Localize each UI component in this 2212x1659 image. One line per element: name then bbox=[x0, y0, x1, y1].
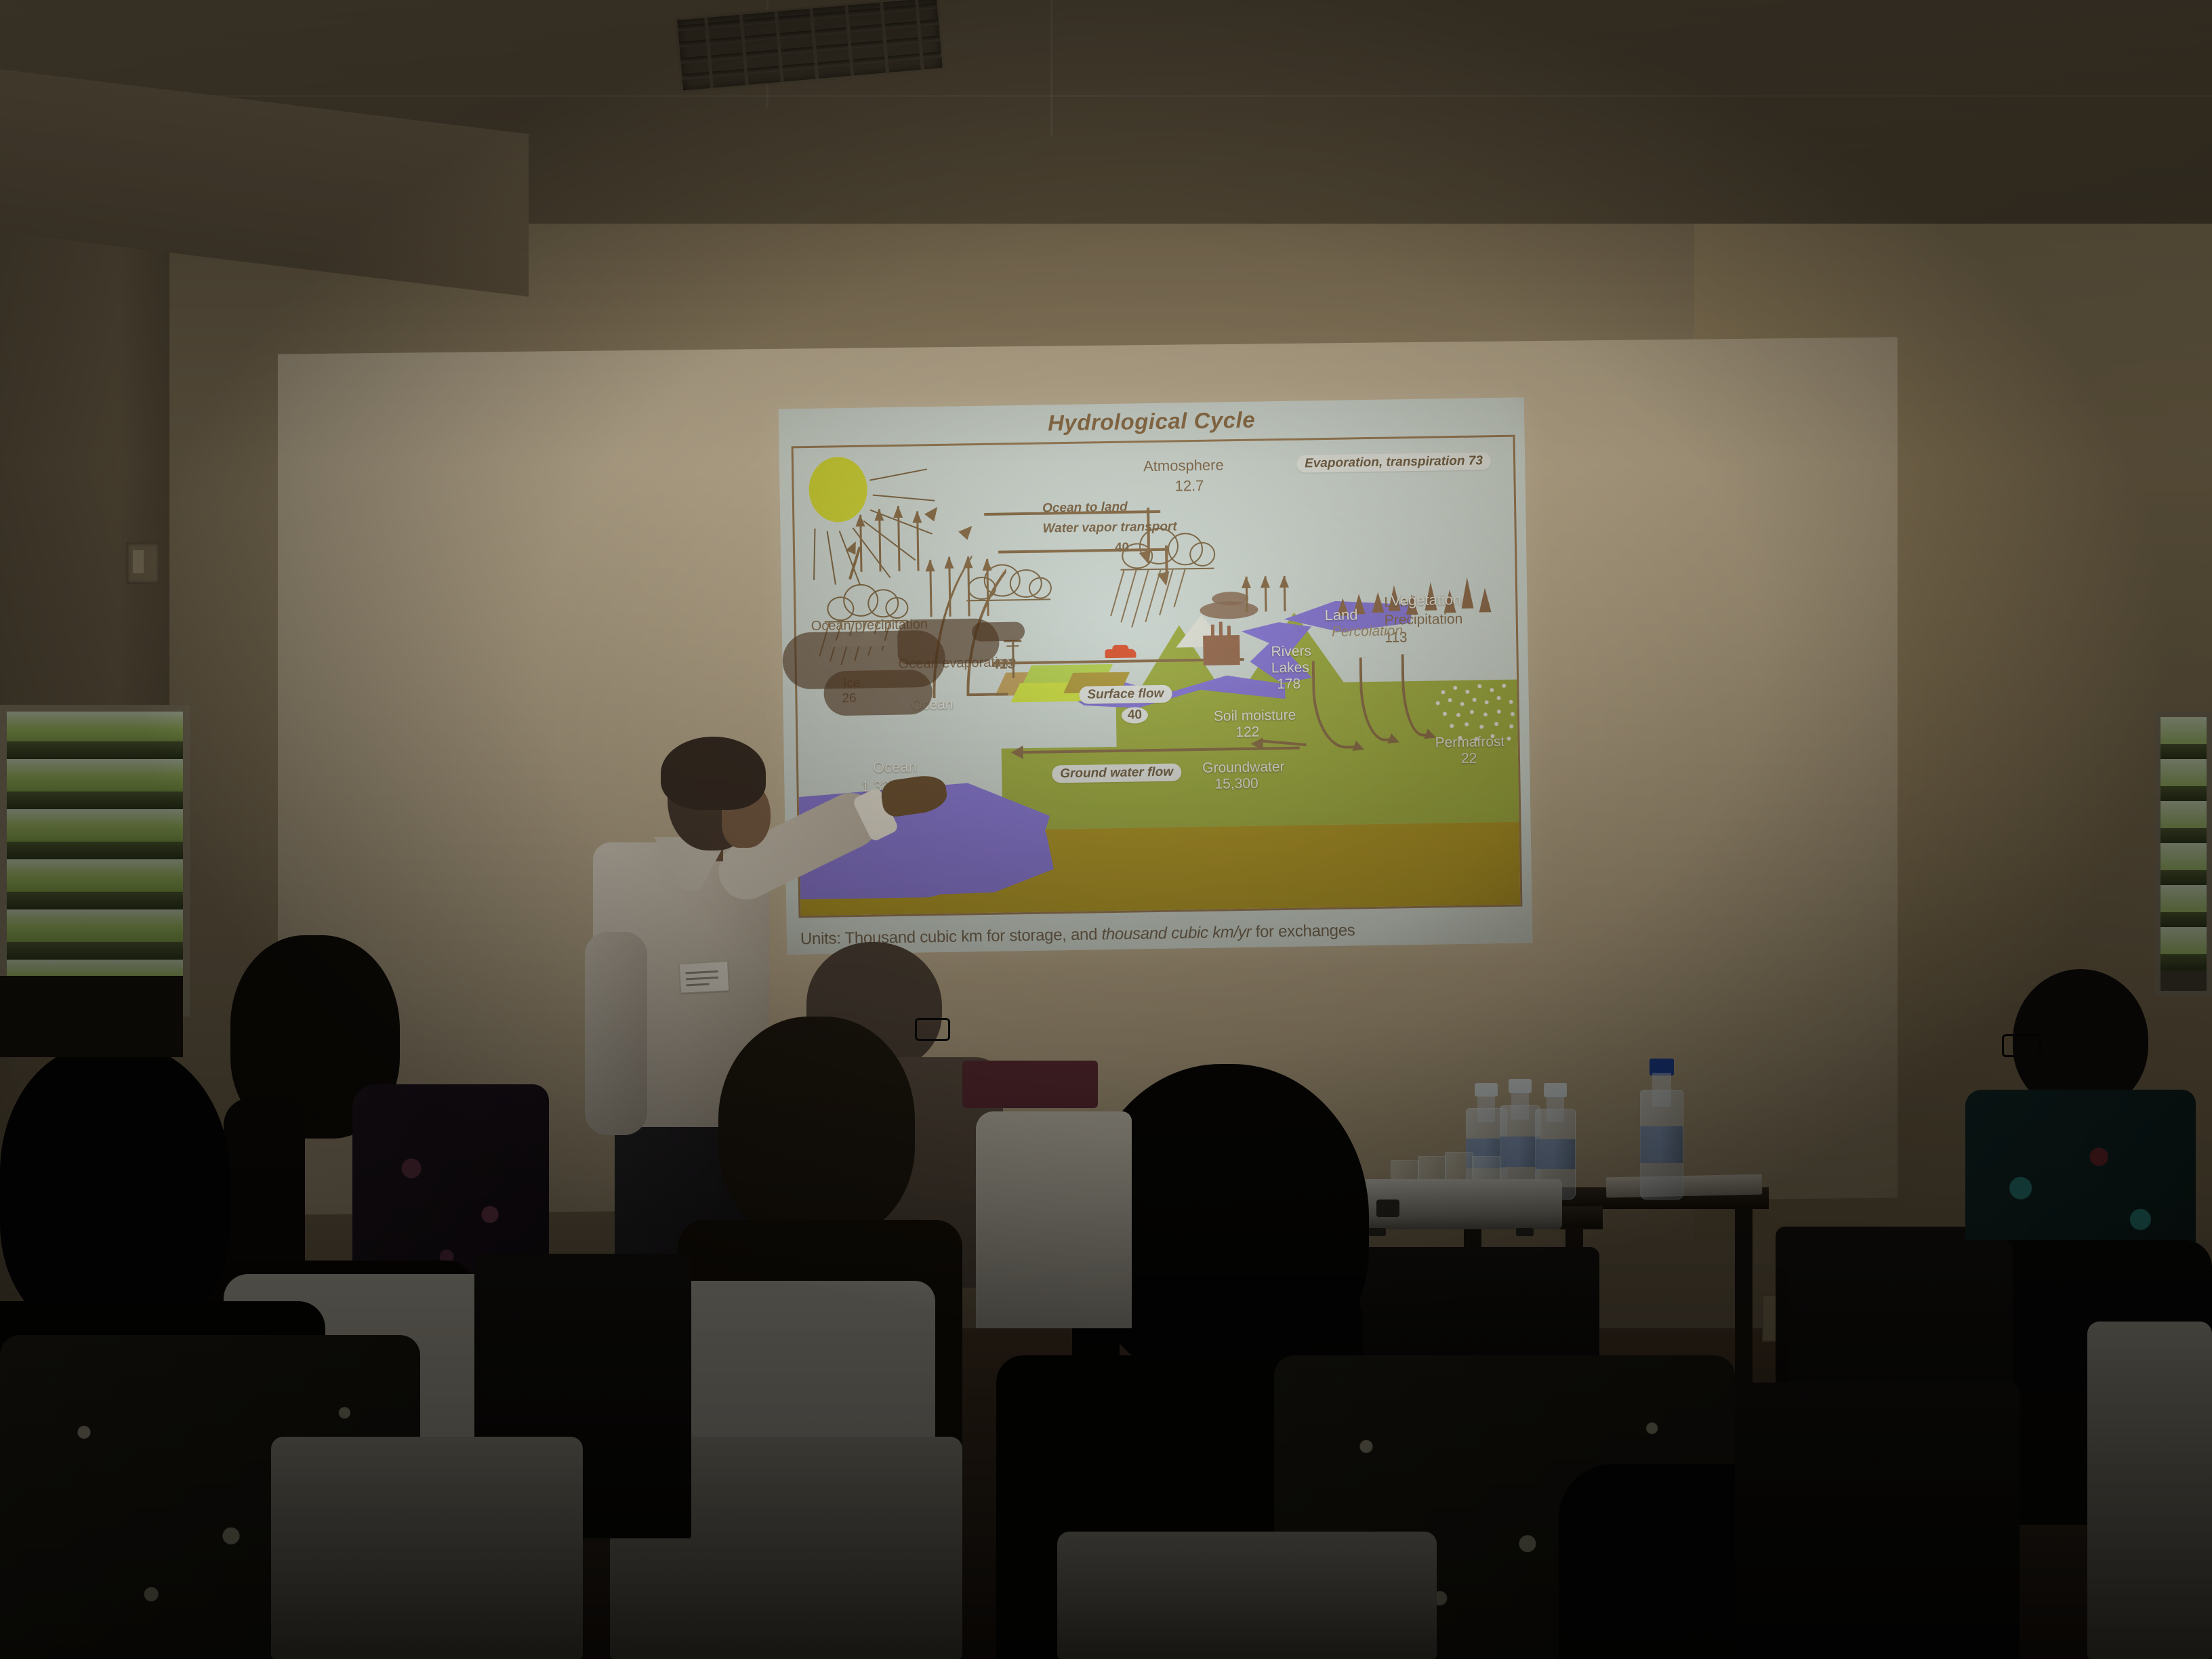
car-roof bbox=[1112, 645, 1128, 651]
presentation-room-photo: Hydrological Cycle bbox=[0, 0, 2212, 1659]
label-soil-moisture-value: 122 bbox=[1235, 724, 1259, 741]
caption-italic: thousand cubic km/yr bbox=[1101, 923, 1251, 943]
label-percolation: Percolation bbox=[1332, 623, 1403, 640]
chair-front-left[interactable] bbox=[271, 1437, 583, 1659]
label-atmosphere: Atmosphere bbox=[1143, 456, 1224, 474]
arrow-head-rise-2 bbox=[958, 522, 977, 540]
arrow-head-rise-1 bbox=[924, 504, 942, 522]
label-ice-value: 26 bbox=[842, 691, 856, 706]
water-bottle-large[interactable] bbox=[1640, 1059, 1683, 1200]
smokestack-3 bbox=[1227, 626, 1231, 638]
audience-member-rear-white-shirt bbox=[976, 1111, 1132, 1328]
label-evaporation-transpiration: Evaporation, transpiration 73 bbox=[1296, 452, 1491, 473]
label-land: Land bbox=[1324, 606, 1357, 623]
label-vegetation: Vegetation bbox=[1391, 591, 1461, 609]
label-soil-moisture: Soil moisture bbox=[1214, 708, 1296, 725]
smokestack-2 bbox=[1219, 621, 1223, 638]
presenter-hair bbox=[661, 737, 766, 810]
chair-far-right[interactable] bbox=[2087, 1322, 2212, 1659]
cloud-left bbox=[823, 579, 912, 623]
derrick-arm2 bbox=[1006, 645, 1019, 647]
glasses-icon-rear bbox=[915, 1018, 950, 1041]
presenter-left-arm bbox=[585, 932, 647, 1135]
cloud-middle bbox=[964, 560, 1054, 601]
label-groundwater-value: 15,300 bbox=[1214, 776, 1258, 793]
label-rivers: Rivers bbox=[1271, 643, 1311, 660]
label-permafrost-value: 22 bbox=[1461, 751, 1477, 768]
name-badge bbox=[679, 961, 729, 994]
slide-title: Hydrological Cycle bbox=[779, 403, 1524, 440]
label-rivers-lakes-value: 178 bbox=[1277, 676, 1300, 693]
projector-lens-icon bbox=[1376, 1200, 1399, 1217]
label-lakes: Lakes bbox=[1271, 659, 1309, 676]
label-ocean-to-land: Ocean to land bbox=[1042, 500, 1128, 516]
label-atmosphere-value: 12.7 bbox=[1174, 477, 1204, 495]
label-surface-flow: Surface flow bbox=[1079, 685, 1172, 704]
label-ocean-mid: Ocean bbox=[911, 697, 953, 714]
chair-foreground-right[interactable] bbox=[1735, 1382, 2020, 1659]
louvered-window-right bbox=[2155, 712, 2212, 996]
label-ocean-precipitation: Ocean precipitation bbox=[811, 617, 928, 634]
label-ice: Ice bbox=[843, 676, 861, 691]
table-right-leg-2 bbox=[1735, 1208, 1753, 1411]
slide-caption: Units: Thousand cubic km for storage, an… bbox=[800, 918, 1532, 949]
smokestack-1 bbox=[1211, 625, 1214, 638]
label-permafrost: Permafrost bbox=[1435, 734, 1504, 752]
label-ground-water-flow: Ground water flow bbox=[1052, 763, 1181, 783]
papers bbox=[1606, 1174, 1763, 1198]
arrow-head-transport-2 bbox=[1158, 571, 1172, 588]
projected-slide: Hydrological Cycle bbox=[779, 397, 1533, 954]
label-transport-value: 40 bbox=[1115, 541, 1129, 556]
louvered-window-left bbox=[0, 705, 190, 1017]
factory-building bbox=[1203, 635, 1240, 665]
label-water-vapor-transport: Water vapor transport bbox=[1042, 519, 1176, 536]
caption-suffix: for exchanges bbox=[1251, 921, 1355, 941]
label-ocean-evaporation-value: 413 bbox=[992, 656, 1016, 673]
projector[interactable] bbox=[1345, 1179, 1562, 1229]
hydrological-cycle-diagram: Atmosphere 12.7 Ocean to land Water vapo… bbox=[794, 437, 1521, 916]
furniture-left-rear bbox=[0, 976, 183, 1057]
chair-center-foreground[interactable] bbox=[1057, 1532, 1437, 1659]
light-switch-icon[interactable] bbox=[126, 542, 160, 584]
glasses-icon bbox=[2002, 1034, 2041, 1057]
label-groundwater: Groundwater bbox=[1202, 759, 1285, 777]
chair-back-maroon[interactable] bbox=[962, 1061, 1098, 1108]
sun-icon bbox=[808, 457, 867, 523]
